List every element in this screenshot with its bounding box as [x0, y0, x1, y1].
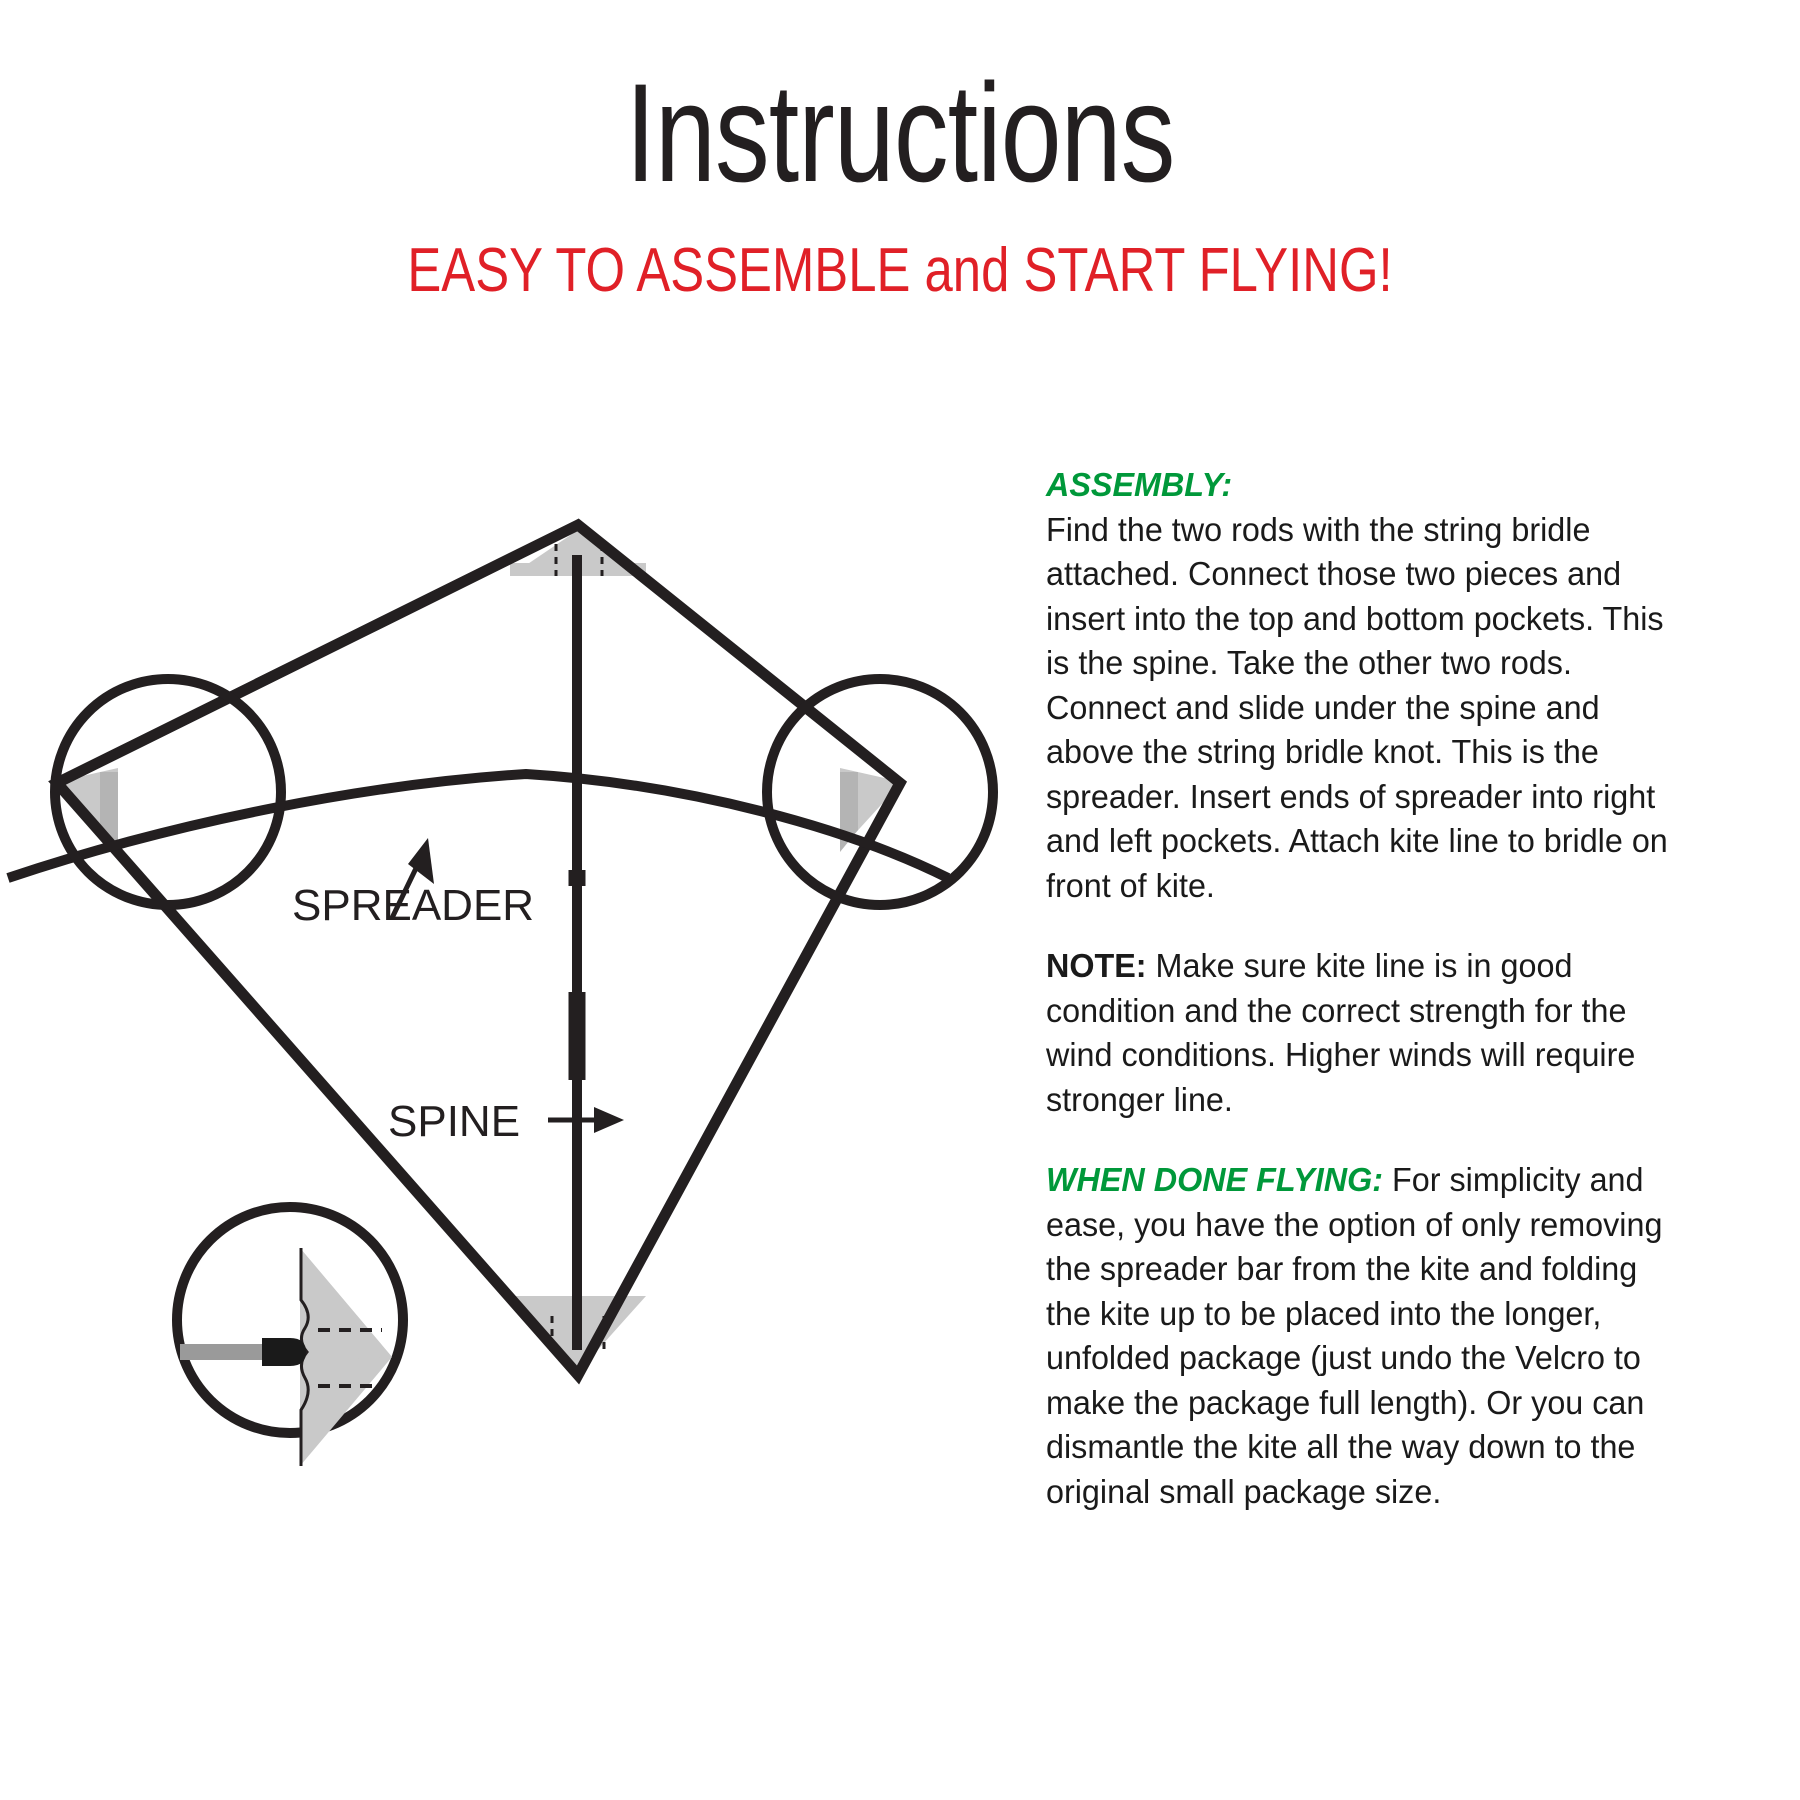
assembly-heading: ASSEMBLY: — [1046, 467, 1232, 504]
when-done-heading: WHEN DONE FLYING: — [1046, 1162, 1383, 1199]
spreader-rod — [8, 774, 948, 878]
kite-diagram-svg: SPREADER SPINE — [0, 420, 1020, 1740]
assembly-paragraph: ASSEMBLY: Find the two rods with the str… — [1046, 464, 1683, 909]
instructions-text-column: ASSEMBLY: Find the two rods with the str… — [1046, 464, 1683, 1515]
assembly-body: Find the two rods with the string bridle… — [1046, 512, 1668, 905]
note-paragraph: NOTE: Make sure kite line is in good con… — [1046, 945, 1683, 1123]
when-done-body: For simplicity and ease, you have the op… — [1046, 1162, 1662, 1511]
when-done-paragraph: WHEN DONE FLYING: For simplicity and eas… — [1046, 1159, 1683, 1515]
kite-diagram: SPREADER SPINE — [0, 420, 1020, 1740]
spine-label: SPINE — [388, 1097, 520, 1146]
spreader-label: SPREADER — [292, 881, 534, 930]
note-heading: NOTE: — [1046, 948, 1147, 985]
rod-into-pocket-callout — [177, 1207, 403, 1466]
page-subtitle: EASY TO ASSEMBLE and START FLYING! — [162, 236, 1638, 306]
spine-callout-arrow — [548, 1107, 624, 1133]
page-title: Instructions — [198, 58, 1602, 208]
kite-sail-outline — [57, 525, 900, 1375]
instruction-sheet: Instructions EASY TO ASSEMBLE and START … — [0, 0, 1800, 1800]
